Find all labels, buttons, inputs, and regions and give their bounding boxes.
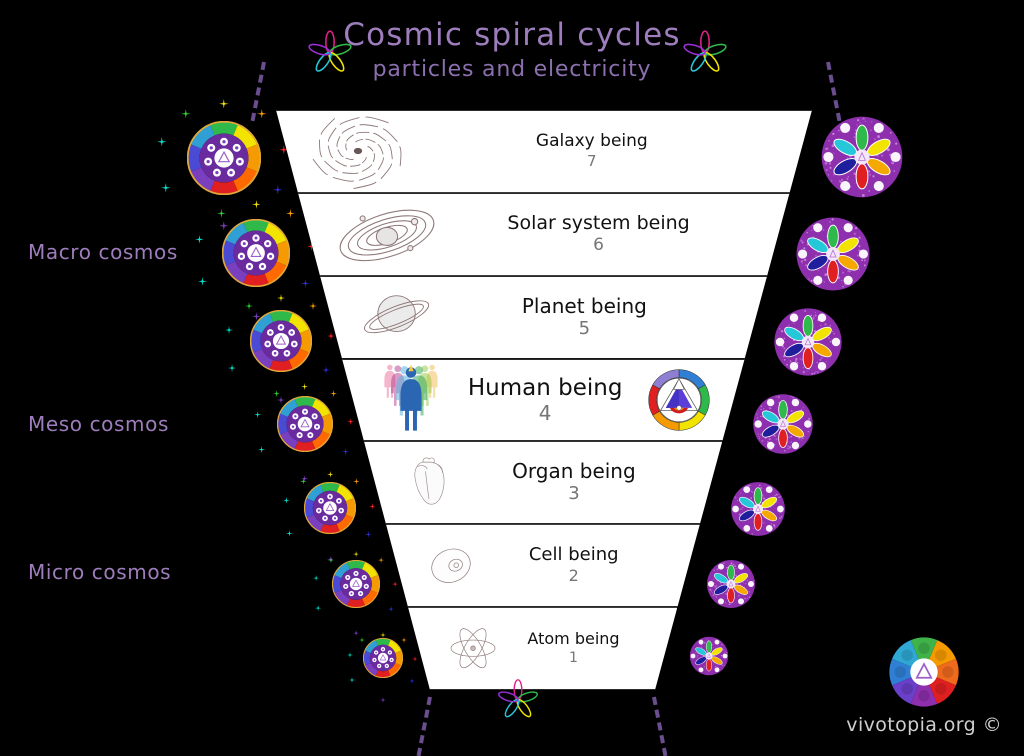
pyramid-row-text: Human being4 [444, 376, 646, 424]
pyramid-row-7[interactable]: Galaxy being7 [276, 110, 812, 193]
pyramid-row-number: 6 [440, 237, 757, 255]
pyramid-row-label: Galaxy being [404, 133, 780, 151]
pyramid-row-number: 4 [444, 403, 646, 424]
heart-icon [400, 454, 458, 512]
pyramid-row-number: 1 [502, 651, 645, 666]
pyramid-row-1[interactable]: Atom being1 [408, 607, 677, 690]
pyramid-row-text: Planet being5 [434, 296, 735, 339]
vivotopia-wheel-logo [846, 636, 1002, 712]
pyramid-row-3[interactable]: Organ being3 [364, 441, 722, 524]
saturn-icon [356, 284, 434, 350]
poster-canvas: Cosmic spiral cycles particles and elect… [0, 0, 1024, 750]
cell-icon [422, 542, 480, 590]
watermark-text: vivotopia.org © [846, 714, 1002, 736]
pyramid-row-label: Atom being [502, 631, 645, 648]
pyramid-row-text: Organ being3 [458, 461, 690, 504]
pyramid-row-2[interactable]: Cell being2 [386, 524, 700, 607]
pyramid-row-number: 7 [404, 154, 780, 170]
pyramid-row-4[interactable]: Human being4 [342, 359, 745, 442]
rainbow-flower-top-left [304, 27, 356, 83]
pyramid-row-text: Solar system being6 [440, 214, 757, 255]
atom-icon [444, 625, 502, 671]
pyramid-row-text: Atom being1 [502, 631, 645, 665]
human-group-icon [378, 362, 444, 438]
pyramid-row-number: 2 [480, 568, 667, 585]
galaxy-icon [312, 105, 404, 197]
pyramid-row-number: 3 [458, 485, 690, 504]
pyramid-row-label: Solar system being [440, 214, 757, 234]
pyramid-row-label: Planet being [434, 296, 735, 317]
solar-system-icon [334, 193, 440, 276]
color-wheel-triangle-icon [646, 367, 712, 433]
pyramid-row-label: Human being [444, 376, 646, 400]
pyramid-row-text: Cell being2 [480, 546, 667, 585]
pyramid-row-text: Galaxy being7 [404, 133, 780, 170]
pyramid-row-number: 5 [434, 320, 735, 339]
rainbow-flower-bottom [494, 676, 542, 728]
rainbow-flower-top-right [679, 27, 731, 83]
pyramid-row-label: Cell being [480, 546, 667, 565]
watermark[interactable]: vivotopia.org © [846, 636, 1002, 736]
pyramid-row-5[interactable]: Planet being5 [320, 276, 767, 359]
pyramid-row-6[interactable]: Solar system being6 [298, 193, 790, 276]
pyramid-row-label: Organ being [458, 461, 690, 482]
